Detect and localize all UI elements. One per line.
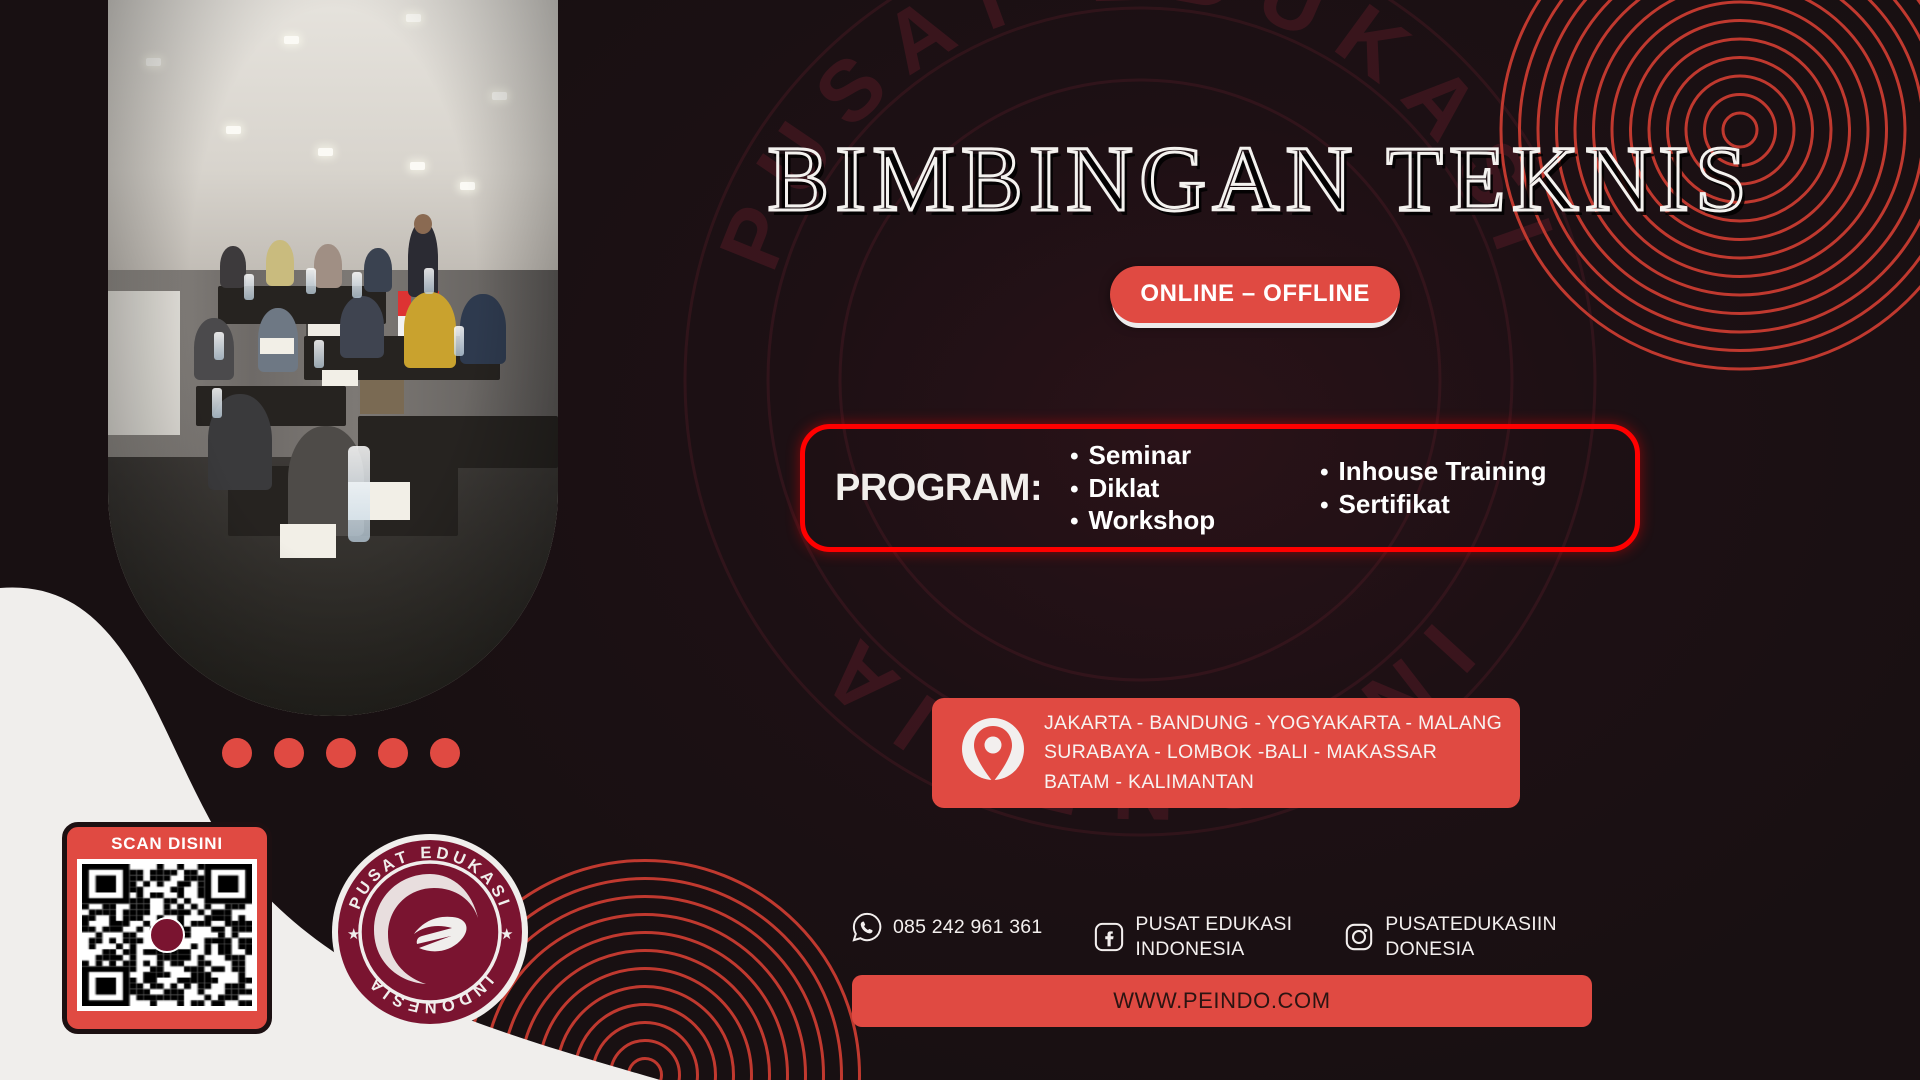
map-pin-icon — [956, 716, 1030, 790]
program-item-label: Diklat — [1089, 473, 1160, 504]
contact-row: 085 242 961 361 PUSAT EDUKASI INDONESIA … — [852, 912, 1612, 962]
qr-code-image — [77, 859, 257, 1011]
program-item: • Workshop — [1070, 505, 1298, 536]
carousel-dot[interactable] — [326, 738, 356, 768]
program-box: PROGRAM: • Seminar • Diklat • Workshop •… — [800, 424, 1640, 552]
program-item: • Sertifikat — [1320, 489, 1546, 520]
bullet-icon: • — [1070, 478, 1078, 502]
carousel-dot[interactable] — [274, 738, 304, 768]
program-item-label: Inhouse Training — [1339, 456, 1547, 487]
qr-center-logo — [149, 917, 185, 953]
contact-line-1: PUSATEDUKASIIN — [1385, 912, 1556, 937]
bullet-icon: • — [1070, 510, 1078, 534]
carousel-dots — [222, 738, 460, 768]
contact-text: 085 242 961 361 — [893, 915, 1042, 940]
qr-code-card[interactable]: SCAN DISINI — [62, 822, 272, 1034]
online-offline-badge: ONLINE – OFFLINE — [1110, 266, 1400, 323]
program-column-1: • Seminar • Diklat • Workshop — [1070, 440, 1298, 536]
contact-line-1: PUSAT EDUKASI — [1135, 912, 1292, 937]
program-label: PROGRAM: — [835, 467, 1042, 510]
location-line: JAKARTA - BANDUNG - YOGYAKARTA - MALANG — [1044, 709, 1502, 738]
location-line: BATAM - KALIMANTAN — [1044, 768, 1502, 797]
program-item-label: Workshop — [1089, 505, 1216, 536]
program-item: • Seminar — [1070, 440, 1298, 471]
bullet-icon: • — [1320, 461, 1328, 485]
program-item: • Diklat — [1070, 473, 1298, 504]
logo-star-right: ★ — [500, 926, 513, 943]
contact-whatsapp[interactable]: 085 242 961 361 — [852, 912, 1042, 942]
program-item-label: Sertifikat — [1339, 489, 1450, 520]
contact-line-1: 085 242 961 361 — [893, 915, 1042, 940]
website-bar[interactable]: WWW.PEINDO.COM — [852, 975, 1592, 1027]
facebook-icon — [1094, 922, 1124, 952]
contact-text: PUSAT EDUKASI INDONESIA — [1135, 912, 1292, 962]
whatsapp-icon — [852, 912, 882, 942]
contact-instagram[interactable]: PUSATEDUKASIIN DONESIA — [1344, 912, 1556, 962]
program-item-label: Seminar — [1089, 440, 1192, 471]
location-badge: JAKARTA - BANDUNG - YOGYAKARTA - MALANG … — [932, 698, 1520, 808]
program-column-2: • Inhouse Training • Sertifikat — [1320, 456, 1546, 519]
carousel-dot[interactable] — [430, 738, 460, 768]
company-logo: PUSAT EDUKASI INDONESIA ★ ★ — [330, 832, 530, 1032]
bullet-icon: • — [1070, 445, 1078, 469]
bullet-icon: • — [1320, 494, 1328, 518]
carousel-dot[interactable] — [378, 738, 408, 768]
program-item: • Inhouse Training — [1320, 456, 1546, 487]
contact-line-2: INDONESIA — [1135, 937, 1292, 962]
location-line: SURABAYA - LOMBOK -BALI - MAKASSAR — [1044, 738, 1502, 767]
logo-star-left: ★ — [347, 926, 360, 943]
contact-text: PUSATEDUKASIIN DONESIA — [1385, 912, 1556, 962]
instagram-icon — [1344, 922, 1374, 952]
page-title: BIMBINGAN TEKNIS — [655, 126, 1865, 233]
contact-facebook[interactable]: PUSAT EDUKASI INDONESIA — [1094, 912, 1292, 962]
qr-label: SCAN DISINI — [77, 834, 257, 854]
carousel-dot[interactable] — [222, 738, 252, 768]
poster-canvas: PUSAT EDUKASI INDONESIA — [0, 0, 1920, 1080]
contact-line-2: DONESIA — [1385, 937, 1556, 962]
location-lines: JAKARTA - BANDUNG - YOGYAKARTA - MALANG … — [1044, 709, 1502, 797]
